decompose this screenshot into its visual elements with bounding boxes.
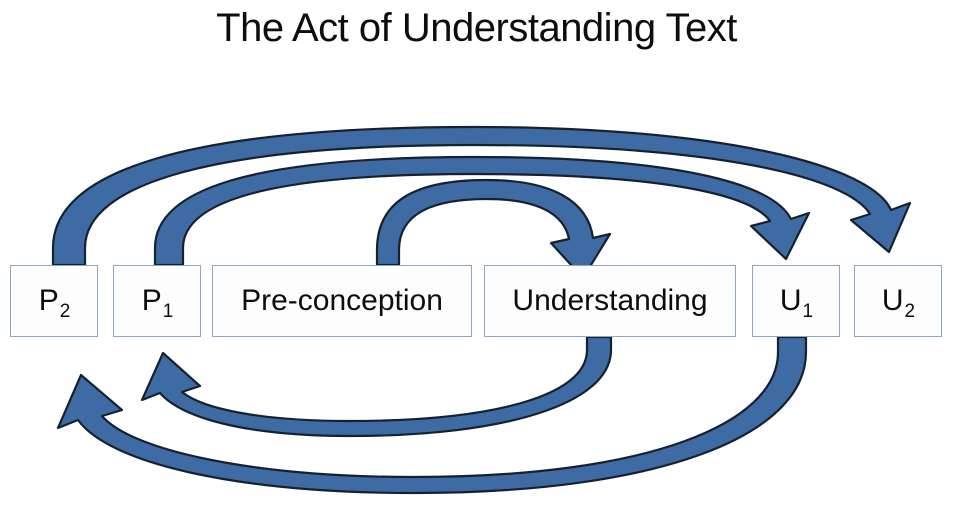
- node-box-u1[interactable]: U1: [752, 265, 840, 337]
- arrow-p1-to-u1: [155, 157, 809, 265]
- node-box-p2[interactable]: P2: [10, 265, 98, 337]
- node-label-understanding: Understanding: [512, 286, 707, 316]
- node-box-p1[interactable]: P1: [113, 265, 201, 337]
- node-label-preconception: Pre-conception: [241, 286, 443, 316]
- diagram-canvas: The Act of Understanding Text P2 P1 Pre-…: [0, 0, 953, 510]
- node-box-u2[interactable]: U2: [854, 265, 942, 337]
- arrow-layer: [0, 0, 953, 510]
- node-box-understanding[interactable]: Understanding: [484, 265, 736, 337]
- node-label-u2: U2: [882, 286, 914, 316]
- arrow-understanding-to-p1: [142, 337, 611, 436]
- node-box-preconception[interactable]: Pre-conception: [212, 265, 472, 337]
- node-label-p2: P2: [39, 286, 70, 316]
- node-label-u1: U1: [780, 286, 812, 316]
- node-label-p1: P1: [142, 286, 173, 316]
- arrow-preconception-to-understanding: [377, 180, 610, 278]
